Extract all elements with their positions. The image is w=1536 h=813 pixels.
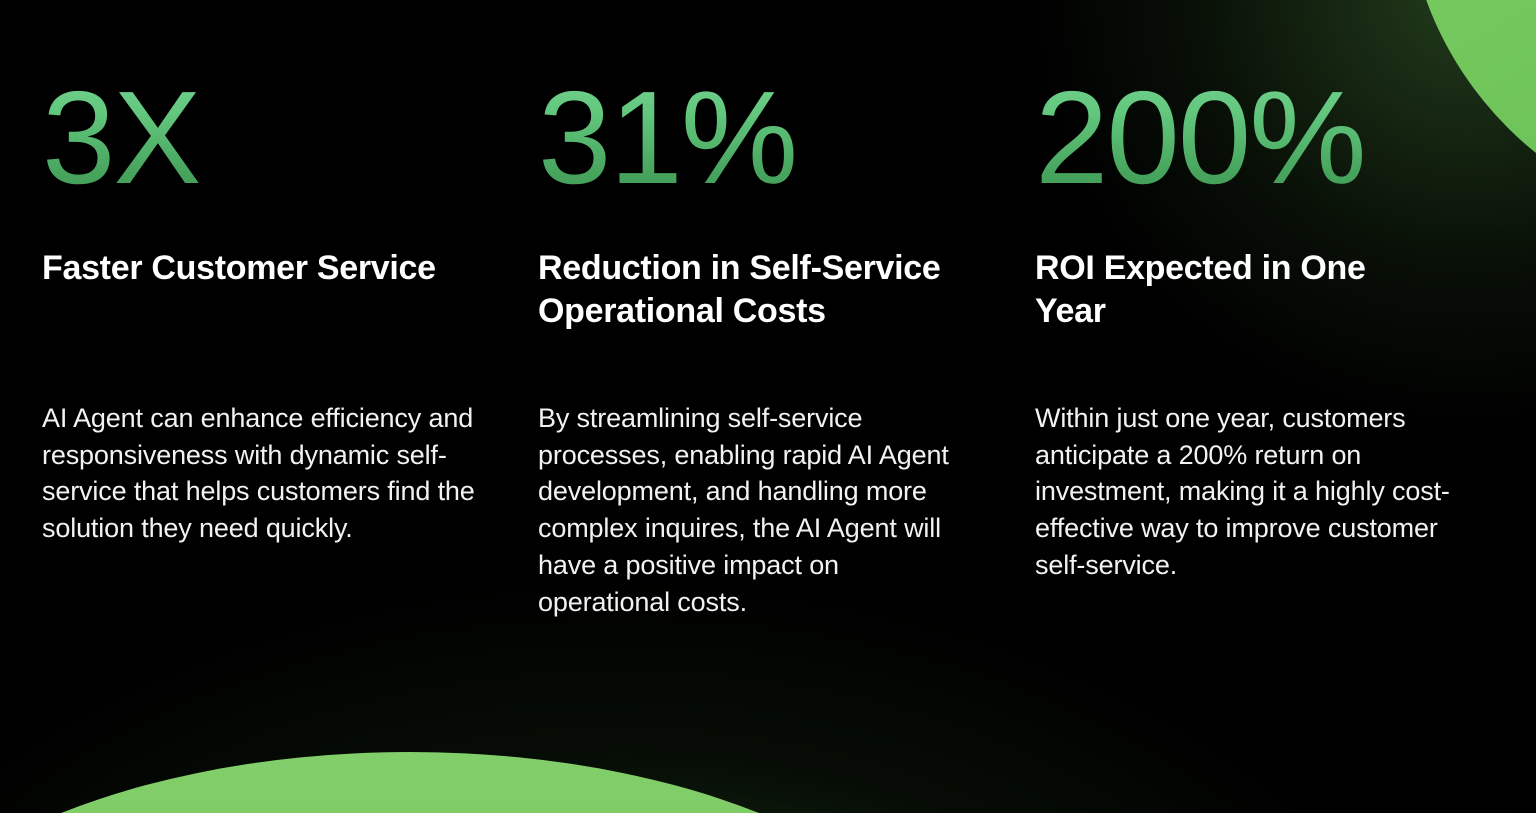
stat-body-3: Within just one year, customers anticipa… — [1035, 356, 1495, 584]
stat-value-1: 3X — [42, 0, 508, 204]
stat-heading-slot-3: ROI Expected in One Year — [1035, 204, 1506, 356]
stats-slide: 3X Faster Customer Service AI Agent can … — [0, 0, 1536, 813]
stat-heading-3: ROI Expected in One Year — [1035, 204, 1415, 332]
stat-value-2: 31% — [538, 0, 1005, 204]
stat-column-3: 200% ROI Expected in One Year Within jus… — [1035, 0, 1536, 813]
stat-column-1: 3X Faster Customer Service AI Agent can … — [42, 0, 538, 813]
stats-columns: 3X Faster Customer Service AI Agent can … — [0, 0, 1536, 813]
stat-body-2: By streamlining self-service processes, … — [538, 356, 958, 620]
stat-value-3: 200% — [1035, 0, 1506, 204]
stat-heading-1: Faster Customer Service — [42, 204, 442, 290]
stat-heading-2: Reduction in Self-Service Operational Co… — [538, 204, 958, 332]
stat-heading-slot-2: Reduction in Self-Service Operational Co… — [538, 204, 1005, 356]
stat-column-2: 31% Reduction in Self-Service Operationa… — [538, 0, 1035, 813]
stat-heading-slot-1: Faster Customer Service — [42, 204, 508, 356]
stat-body-1: AI Agent can enhance efficiency and resp… — [42, 356, 494, 547]
